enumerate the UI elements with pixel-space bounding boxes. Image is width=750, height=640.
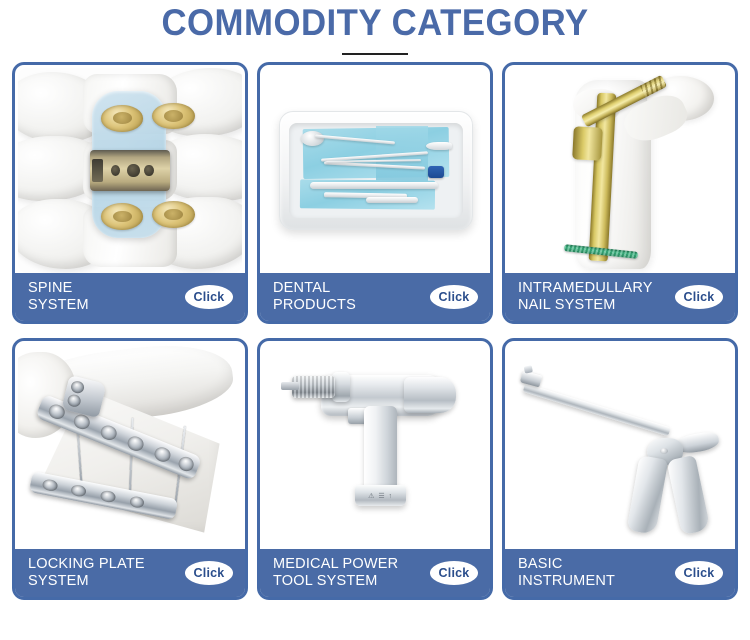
card-footer-medical-power-tool-system: MEDICAL POWER TOOL SYSTEM Click <box>260 549 490 597</box>
card-label-spine-system: SPINE SYSTEM <box>28 280 89 314</box>
card-footer-basic-instrument: BASIC INSTRUMENT Click <box>505 549 735 597</box>
locking-plate-illustration <box>18 344 242 549</box>
category-card-spine-system[interactable]: SPINE SYSTEM Click <box>12 62 248 324</box>
category-card-basic-instrument[interactable]: BASIC INSTRUMENT Click <box>502 338 738 600</box>
card-label-intramedullary-nail-system: INTRAMEDULLARY NAIL SYSTEM <box>518 280 653 314</box>
card-label-medical-power-tool-system: MEDICAL POWER TOOL SYSTEM <box>273 556 398 590</box>
click-button-locking-plate-system[interactable]: Click <box>185 561 233 585</box>
card-image-dental-products <box>263 68 487 273</box>
dental-tray-illustration <box>263 68 487 273</box>
page-header: COMMODITY CATEGORY <box>0 0 750 55</box>
category-card-dental-products[interactable]: DENTAL PRODUCTS Click <box>257 62 493 324</box>
page-title: COMMODITY CATEGORY <box>23 2 728 44</box>
click-button-basic-instrument[interactable]: Click <box>675 561 723 585</box>
card-image-medical-power-tool-system: ⚠ ☰ ↑ <box>263 344 487 549</box>
card-image-intramedullary-nail-system <box>508 68 732 273</box>
card-footer-intramedullary-nail-system: INTRAMEDULLARY NAIL SYSTEM Click <box>505 273 735 321</box>
title-divider <box>342 53 408 55</box>
click-button-intramedullary-nail-system[interactable]: Click <box>675 285 723 309</box>
click-button-spine-system[interactable]: Click <box>185 285 233 309</box>
card-footer-locking-plate-system: LOCKING PLATE SYSTEM Click <box>15 549 245 597</box>
card-image-spine-system <box>18 68 242 273</box>
card-image-basic-instrument <box>508 344 732 549</box>
category-card-locking-plate-system[interactable]: LOCKING PLATE SYSTEM Click <box>12 338 248 600</box>
card-label-locking-plate-system: LOCKING PLATE SYSTEM <box>28 556 145 590</box>
surgical-drill-illustration: ⚠ ☰ ↑ <box>263 344 487 549</box>
card-footer-dental-products: DENTAL PRODUCTS Click <box>260 273 490 321</box>
category-card-medical-power-tool-system[interactable]: ⚠ ☰ ↑ MEDICAL POWER TOOL SYSTEM Click <box>257 338 493 600</box>
card-image-locking-plate-system <box>18 344 242 549</box>
card-footer-spine-system: SPINE SYSTEM Click <box>15 273 245 321</box>
card-label-dental-products: DENTAL PRODUCTS <box>273 280 356 314</box>
click-button-medical-power-tool-system[interactable]: Click <box>430 561 478 585</box>
category-card-grid: SPINE SYSTEM Click <box>12 62 738 600</box>
card-label-basic-instrument: BASIC INSTRUMENT <box>518 556 615 590</box>
category-card-intramedullary-nail-system[interactable]: INTRAMEDULLARY NAIL SYSTEM Click <box>502 62 738 324</box>
intramedullary-nail-illustration <box>508 68 732 273</box>
click-button-dental-products[interactable]: Click <box>430 285 478 309</box>
rongeur-illustration <box>508 344 732 549</box>
spine-illustration <box>18 68 242 273</box>
